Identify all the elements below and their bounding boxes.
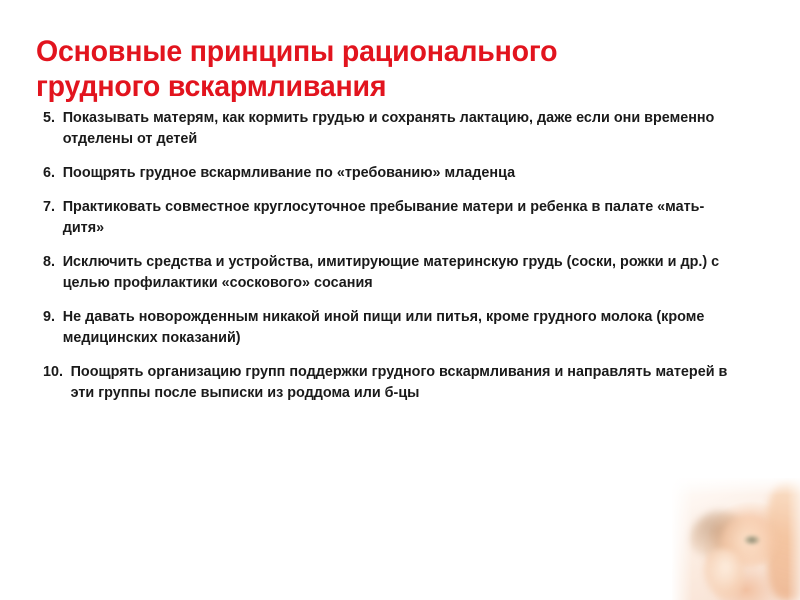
list-item: 5. Показывать матерям, как кормить грудь… [43, 108, 738, 150]
list-item-number: 7. [43, 197, 63, 218]
photo-vignette [672, 478, 800, 600]
principles-list: 5. Показывать матерям, как кормить грудь… [43, 108, 749, 404]
list-item-number: 10. [43, 362, 71, 383]
list-item: 10. Поощрять организацию групп поддержки… [43, 362, 738, 404]
list-item-number: 6. [43, 163, 63, 184]
list-item: 9. Не давать новорожденным никакой иной … [43, 307, 738, 349]
presentation-slide: Основные принципы рационального грудного… [0, 0, 800, 600]
list-item-text: Поощрять грудное вскармливание по «требо… [63, 163, 739, 184]
list-item-text: Не давать новорожденным никакой иной пищ… [63, 307, 739, 349]
breastfeeding-photo [672, 478, 800, 600]
page-title: Основные принципы рационального грудного… [36, 34, 692, 104]
list-item-number: 9. [43, 307, 63, 328]
list-item: 8. Исключить средства и устройства, имит… [43, 252, 738, 294]
list-item-number: 8. [43, 252, 63, 273]
list-item-text: Поощрять организацию групп поддержки гру… [71, 362, 739, 404]
list-item: 6. Поощрять грудное вскармливание по «тр… [43, 163, 738, 184]
list-item-text: Исключить средства и устройства, имитиру… [63, 252, 739, 294]
list-item-text: Показывать матерям, как кормить грудью и… [63, 108, 739, 150]
list-item: 7. Практиковать совместное круглосуточно… [43, 197, 738, 239]
list-item-number: 5. [43, 108, 63, 129]
list-item-text: Практиковать совместное круглосуточное п… [63, 197, 739, 239]
